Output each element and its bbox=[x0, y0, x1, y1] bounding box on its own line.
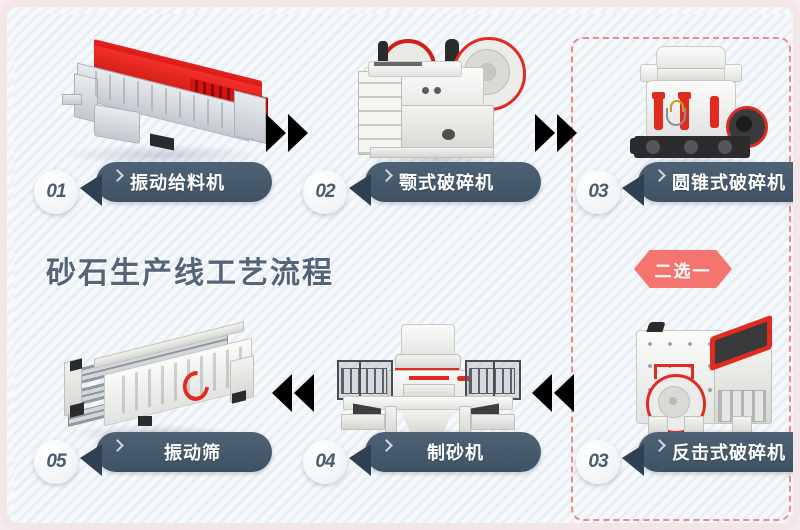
arrow-triangle-2 bbox=[288, 114, 308, 152]
step-01[interactable]: 01 振动给料机 bbox=[34, 162, 272, 202]
arrow-triangle-1 bbox=[535, 114, 555, 152]
machine-cone-crusher bbox=[614, 34, 774, 172]
step-label-pill[interactable]: 振动给料机 bbox=[96, 162, 272, 202]
outer-frame: 砂石生产线工艺流程 二选一 bbox=[0, 0, 800, 530]
chevron-right-icon bbox=[380, 439, 393, 452]
step-label-text: 反击式破碎机 bbox=[672, 439, 786, 465]
step-number-badge: 02 bbox=[303, 170, 347, 214]
chevron-right-icon bbox=[111, 169, 124, 182]
step-03-cone[interactable]: 03 圆锥式破碎机 bbox=[576, 162, 800, 202]
step-04[interactable]: 04 制砂机 bbox=[303, 432, 541, 472]
chevron-right-icon bbox=[380, 169, 393, 182]
step-number-badge: 03 bbox=[576, 170, 620, 214]
chevron-right-icon bbox=[653, 169, 666, 182]
arrow-triangle-2 bbox=[557, 114, 577, 152]
inner-canvas: 砂石生产线工艺流程 二选一 bbox=[14, 14, 800, 530]
machine-vibrating-feeder bbox=[42, 36, 277, 161]
step-label-pill[interactable]: 反击式破碎机 bbox=[638, 432, 800, 472]
step-number-badge: 04 bbox=[303, 440, 347, 484]
chevron-right-icon bbox=[653, 439, 666, 452]
step-label-text: 振动筛 bbox=[164, 439, 221, 465]
arrow-triangle-1 bbox=[266, 114, 286, 152]
step-label-text: 颚式破碎机 bbox=[399, 169, 494, 195]
machine-jaw-crusher bbox=[344, 29, 522, 169]
arrow-triangle-1 bbox=[272, 374, 292, 412]
arrow-triangle-2 bbox=[294, 374, 314, 412]
machine-sand-making-machine bbox=[329, 314, 524, 444]
flow-diagram-stage: 砂石生产线工艺流程 二选一 bbox=[0, 0, 800, 530]
page-title: 砂石生产线工艺流程 bbox=[46, 248, 334, 292]
step-label-text: 振动给料机 bbox=[130, 169, 225, 195]
arrow-triangle-2 bbox=[554, 374, 574, 412]
step-label-text: 制砂机 bbox=[427, 439, 484, 465]
arrow-triangle-1 bbox=[532, 374, 552, 412]
arrow-jaw-to-cone bbox=[535, 114, 577, 152]
step-03-impact[interactable]: 03 反击式破碎机 bbox=[576, 432, 800, 472]
step-label-pill[interactable]: 颚式破碎机 bbox=[365, 162, 541, 202]
arrow-sandmaker-to-screen bbox=[272, 374, 314, 412]
choose-one-badge: 二选一 bbox=[634, 250, 732, 288]
arrow-feeder-to-jaw bbox=[266, 114, 308, 152]
machine-vibrating-screen bbox=[42, 316, 267, 442]
step-number-badge: 03 bbox=[576, 440, 620, 484]
step-label-pill[interactable]: 振动筛 bbox=[96, 432, 272, 472]
step-number-badge: 05 bbox=[34, 440, 78, 484]
step-05[interactable]: 05 振动筛 bbox=[34, 432, 272, 472]
step-label-pill[interactable]: 制砂机 bbox=[365, 432, 541, 472]
step-label-text: 圆锥式破碎机 bbox=[672, 169, 786, 195]
arrow-impact-to-sandmaker bbox=[532, 374, 574, 412]
step-number-badge: 01 bbox=[34, 170, 78, 214]
step-02[interactable]: 02 颚式破碎机 bbox=[303, 162, 541, 202]
step-label-pill[interactable]: 圆锥式破碎机 bbox=[638, 162, 800, 202]
chevron-right-icon bbox=[111, 439, 124, 452]
machine-impact-crusher bbox=[614, 312, 784, 444]
